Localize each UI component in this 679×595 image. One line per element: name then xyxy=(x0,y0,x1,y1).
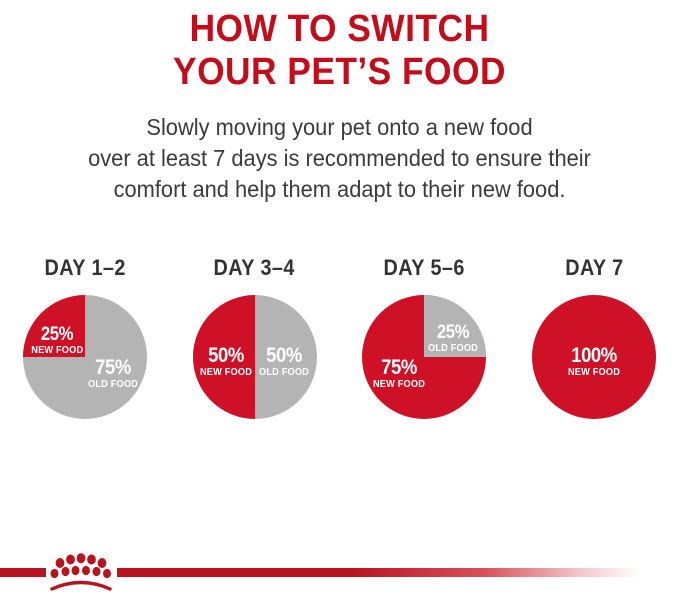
day-label-7: DAY 7 xyxy=(565,255,623,281)
pie-slice-new-food xyxy=(532,295,656,419)
intro-line-2: over at least 7 days is recommended to e… xyxy=(17,143,662,174)
intro-line-3: comfort and help them adapt to their new… xyxy=(17,174,662,205)
day-label-3-4: DAY 3–4 xyxy=(214,255,295,281)
pie-cell-day-7: DAY 7 100% NEW FOOD xyxy=(514,255,674,419)
pie-svg-day-5-6 xyxy=(362,295,486,419)
pie-chart-day-5-6: 25% OLD FOOD 75% NEW FOOD xyxy=(362,295,486,419)
pie-slice-new-food xyxy=(193,295,255,419)
pie-svg-day-1-2 xyxy=(23,295,147,419)
pie-cell-day-3-4: DAY 3–4 50% NEW FOOD 50% OLD FOOD xyxy=(175,255,335,419)
pie-cell-day-1-2: DAY 1–2 25% NEW FOOD 75% OLD FOOD xyxy=(5,255,165,419)
footer-bar-left-segment xyxy=(0,568,46,577)
intro-paragraph: Slowly moving your pet onto a new food o… xyxy=(17,112,662,205)
page-title-line-1: HOW TO SWITCH xyxy=(24,8,655,51)
page-title: HOW TO SWITCH YOUR PET’S FOOD xyxy=(0,0,679,94)
pie-svg-day-3-4 xyxy=(193,295,317,419)
footer-brand-bar xyxy=(0,547,679,595)
footer-bar-right-segment xyxy=(117,568,640,577)
day-label-1-2: DAY 1–2 xyxy=(44,255,125,281)
royal-canin-crown-icon xyxy=(44,549,118,593)
pie-chart-day-1-2: 25% NEW FOOD 75% OLD FOOD xyxy=(23,295,147,419)
pie-chart-day-3-4: 50% NEW FOOD 50% OLD FOOD xyxy=(193,295,317,419)
day-label-5-6: DAY 5–6 xyxy=(384,255,465,281)
pie-slice-old-food xyxy=(424,295,486,357)
pie-cell-day-5-6: DAY 5–6 25% OLD FOOD 75% NEW FOOD xyxy=(344,255,504,419)
pie-chart-row: DAY 1–2 25% NEW FOOD 75% OLD FOOD DAY 3–… xyxy=(0,255,679,419)
pie-slice-new-food xyxy=(23,295,85,357)
pie-svg-day-7 xyxy=(532,295,656,419)
intro-line-1: Slowly moving your pet onto a new food xyxy=(17,112,662,143)
page-title-line-2: YOUR PET’S FOOD xyxy=(24,51,655,94)
pie-chart-day-7: 100% NEW FOOD xyxy=(532,295,656,419)
